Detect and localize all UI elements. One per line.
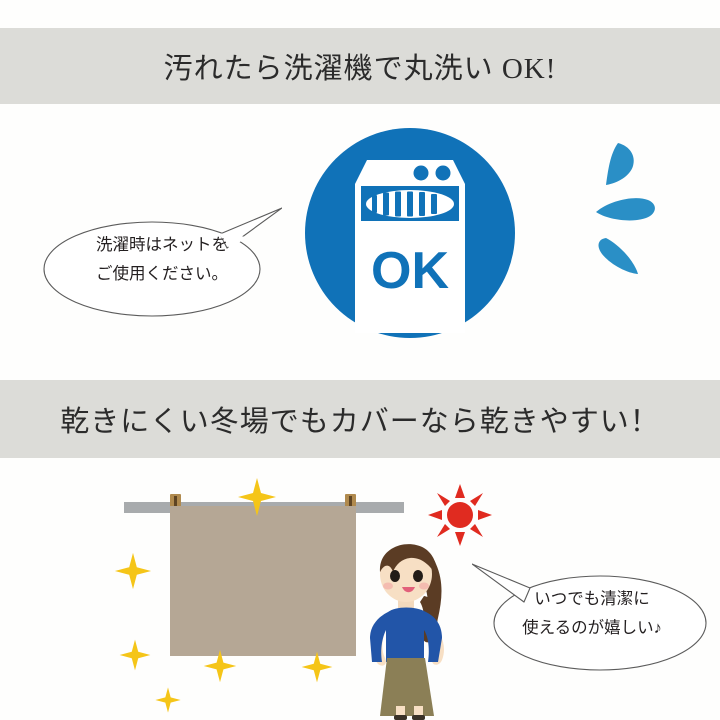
sparkle-icon <box>236 476 278 518</box>
sparkle-icon <box>113 551 153 591</box>
washer-icon-glyph: OK <box>305 128 515 343</box>
bubble-1-text: 洗濯時はネットを ご使用ください。 <box>42 231 282 289</box>
woman-illustration <box>358 530 478 720</box>
washer-ok-label: OK <box>371 242 449 300</box>
heading-text-dries-fast: 乾きにくい冬場でもカバーなら乾きやすい！ <box>60 398 659 440</box>
sparkle-icon <box>154 686 182 714</box>
sparkle-icon <box>202 648 238 684</box>
bubble-2-text: いつでも清潔に 使えるのが嬉しい♪ <box>472 585 712 643</box>
heading-text-washable: 汚れたら洗濯機で丸洗い OK! <box>164 45 557 87</box>
speech-bubble-washing-net: 洗濯時はネットを ご使用ください。 <box>42 206 282 318</box>
promo-page: 汚れたら洗濯機で丸洗い OK! OK <box>0 0 720 720</box>
washing-machine-ok-icon: OK <box>305 128 515 343</box>
heading-band-dries-fast: 乾きにくい冬場でもカバーなら乾きやすい！ <box>0 380 720 458</box>
heading-band-washable: 汚れたら洗濯機で丸洗い OK! <box>0 28 720 104</box>
speech-bubble-always-clean: いつでも清潔に 使えるのが嬉しい♪ <box>472 560 712 672</box>
sparkle-icon <box>118 638 152 672</box>
water-splash-icon <box>588 140 678 280</box>
sparkle-icon <box>300 650 334 684</box>
hanging-cover-fabric <box>170 506 356 656</box>
